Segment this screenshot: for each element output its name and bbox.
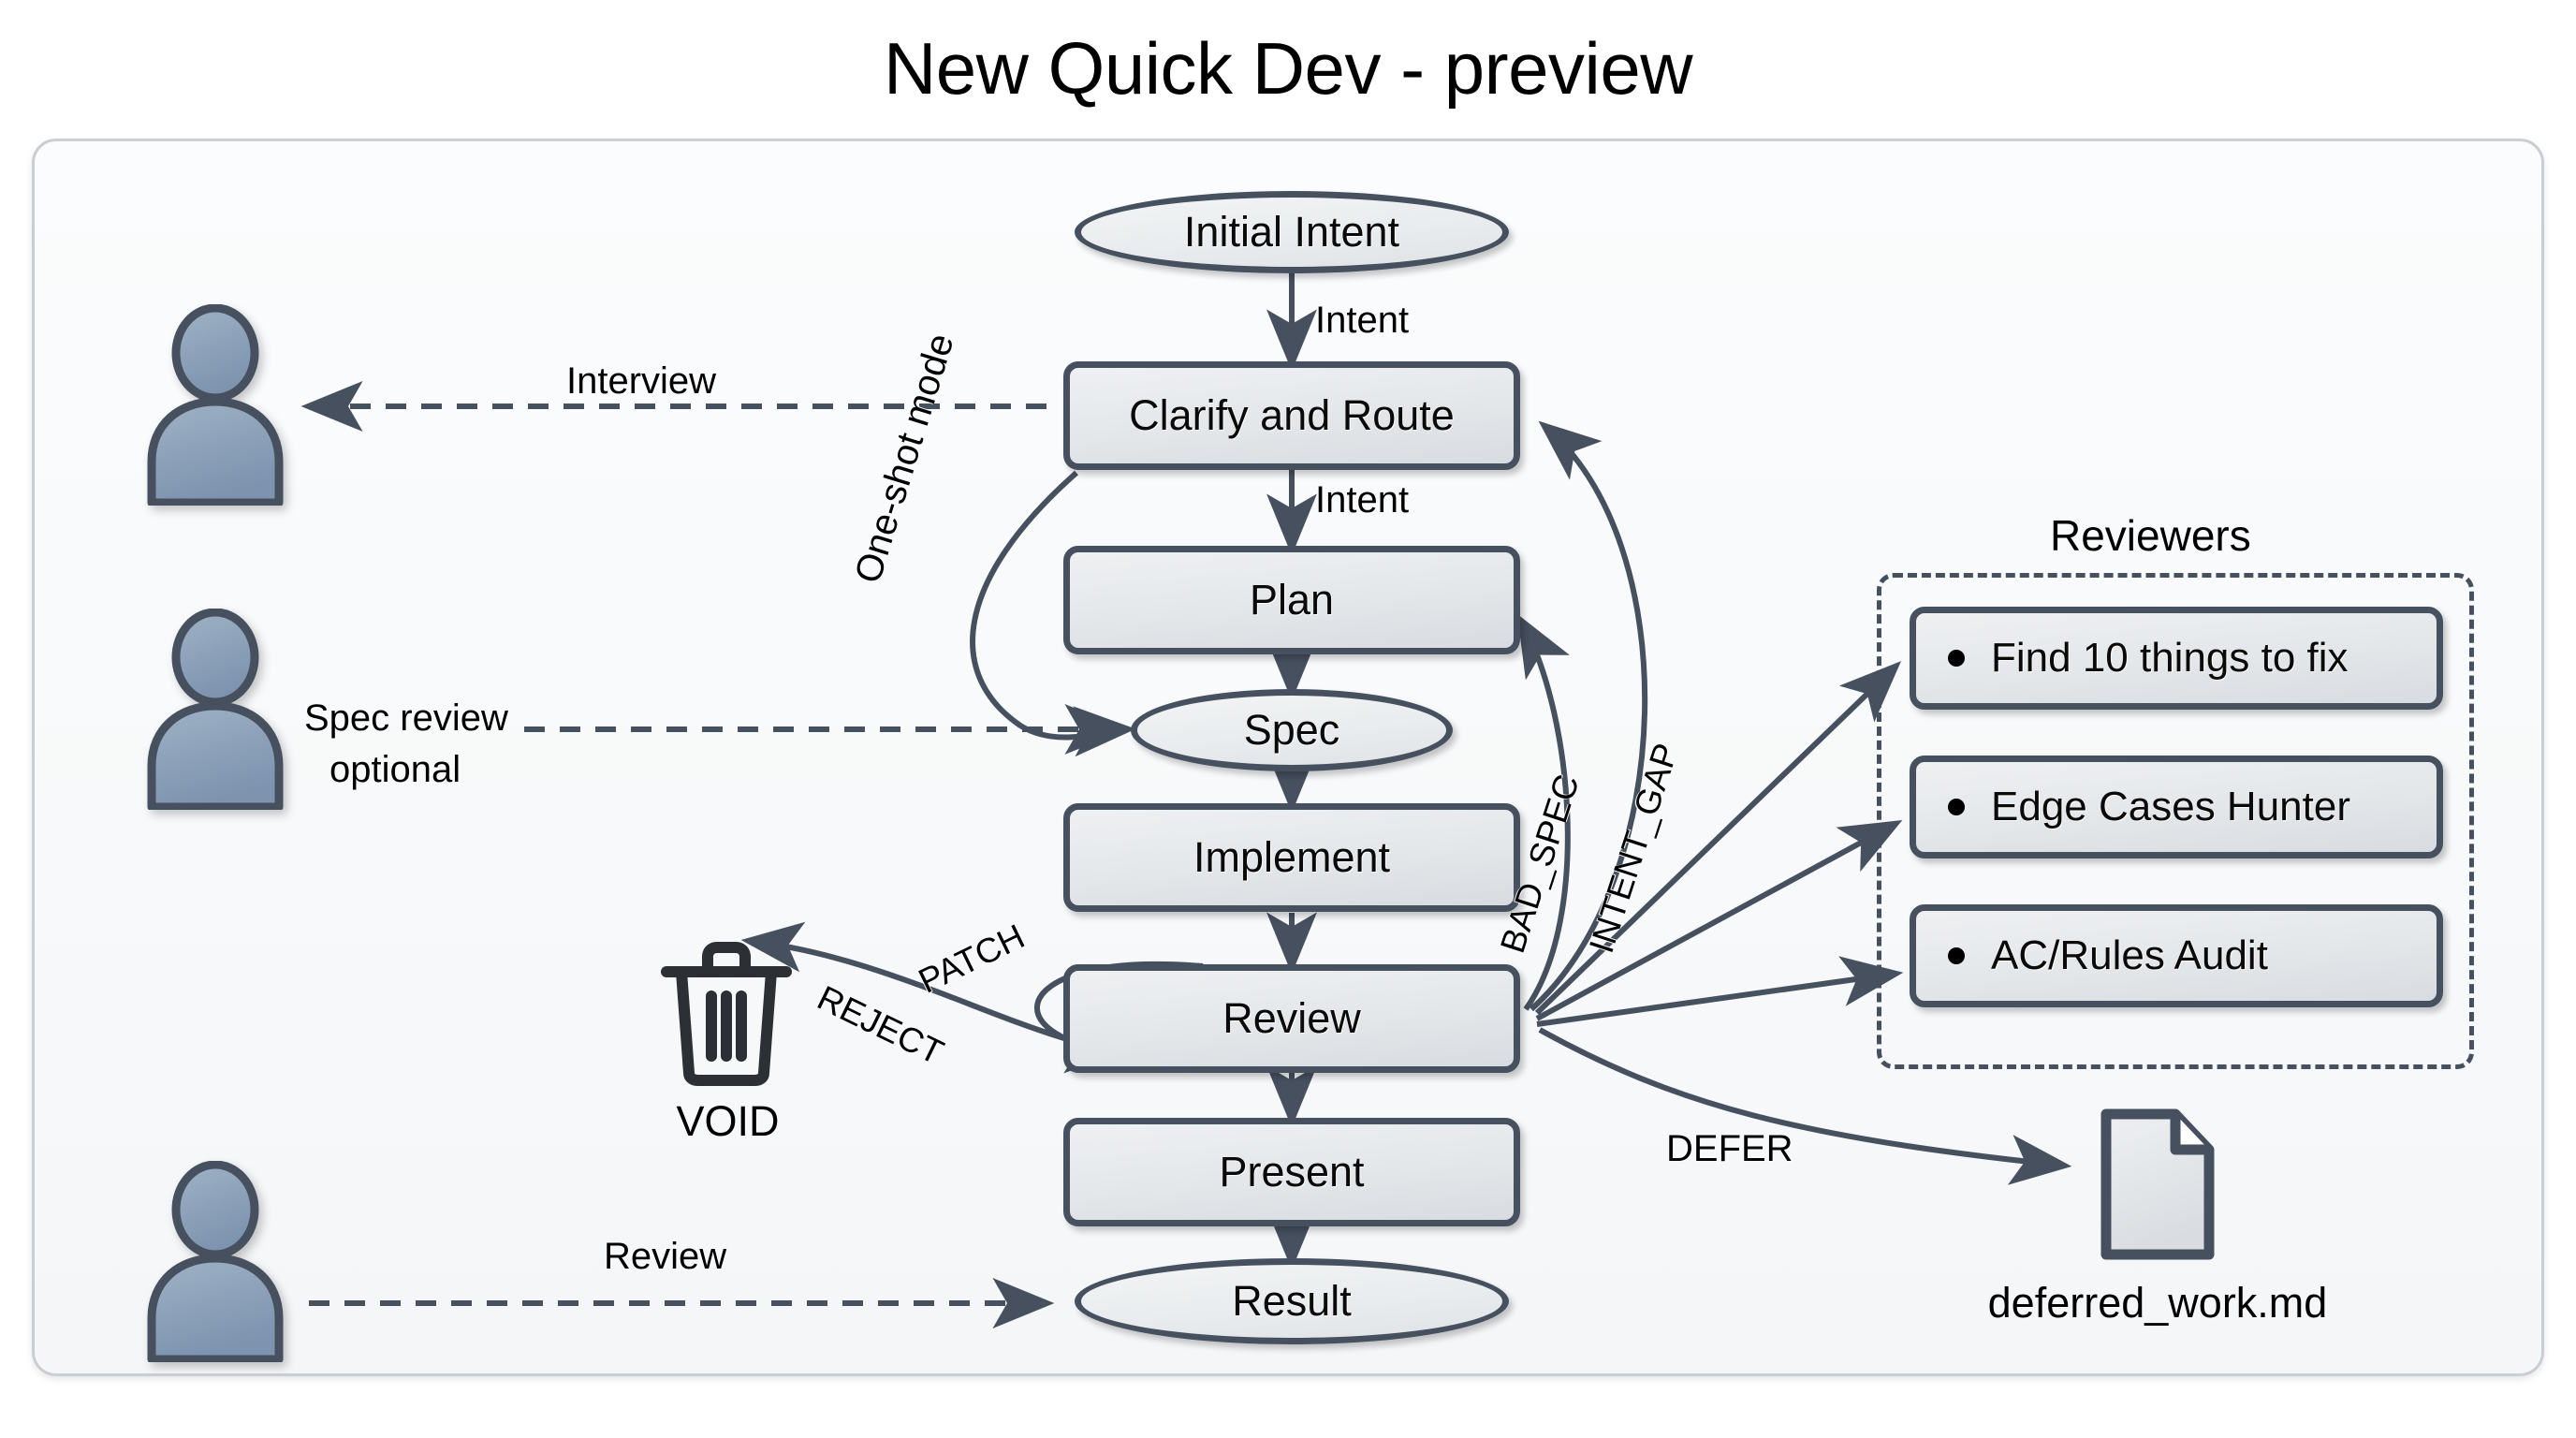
node-initial-intent[interactable]: Initial Intent [1075,191,1509,273]
node-result[interactable]: Result [1075,1258,1509,1344]
person-icon [140,304,290,506]
node-clarify-and-route[interactable]: Clarify and Route [1063,361,1520,470]
edge-label-spec-review-line2: optional [329,749,461,791]
bullet-icon [1948,650,1965,667]
person-icon [140,1161,290,1362]
node-label: Plan [1250,576,1334,624]
node-review[interactable]: Review [1063,964,1520,1073]
edge-label-defer: DEFER [1666,1128,1793,1170]
edge-label-intent-2: Intent [1315,479,1409,521]
deferred-work-artifact[interactable] [2097,1105,2218,1264]
edge-label-interview: Interview [566,360,716,403]
node-spec[interactable]: Spec [1131,689,1453,771]
void-caption: VOID [646,1097,810,1146]
actor-spec-reviewer[interactable] [140,609,290,810]
edge-label-spec-review-line1: Spec review [304,697,508,740]
reviewer-item-label: Find 10 things to fix [1991,635,2349,682]
reviewers-group-title: Reviewers [2050,510,2251,561]
node-label: Implement [1193,833,1390,882]
reviewer-item-label: Edge Cases Hunter [1991,784,2350,830]
node-label: Clarify and Route [1129,391,1455,440]
person-icon [140,609,290,810]
node-implement[interactable]: Implement [1063,803,1520,912]
actor-result-reviewer[interactable] [140,1161,290,1362]
page-title: New Quick Dev - preview [0,26,2576,111]
edge-label-intent-1: Intent [1315,300,1409,342]
bullet-icon [1948,947,1965,964]
node-label: Result [1232,1277,1352,1326]
node-present[interactable]: Present [1063,1118,1520,1226]
trash-icon [655,936,798,1086]
reviewer-item-ac-rules-audit[interactable]: AC/Rules Audit [1910,904,2443,1007]
reviewer-item-find-10-things-to-fix[interactable]: Find 10 things to fix [1910,607,2443,710]
diagram-canvas: New Quick Dev - preview [0,0,2576,1438]
edge-label-review-actor: Review [604,1236,726,1278]
void-artifact[interactable] [655,936,798,1086]
node-label: Review [1222,994,1361,1043]
bullet-icon [1948,799,1965,815]
actor-interviewer[interactable] [140,304,290,506]
node-label: Present [1219,1148,1364,1196]
node-label: Initial Intent [1184,208,1399,257]
node-label: Spec [1244,706,1340,755]
reviewer-item-edge-cases-hunter[interactable]: Edge Cases Hunter [1910,756,2443,858]
deferred-work-caption: deferred_work.md [1924,1279,2392,1328]
file-icon [2097,1105,2218,1264]
reviewer-item-label: AC/Rules Audit [1991,932,2268,979]
node-plan[interactable]: Plan [1063,546,1520,654]
